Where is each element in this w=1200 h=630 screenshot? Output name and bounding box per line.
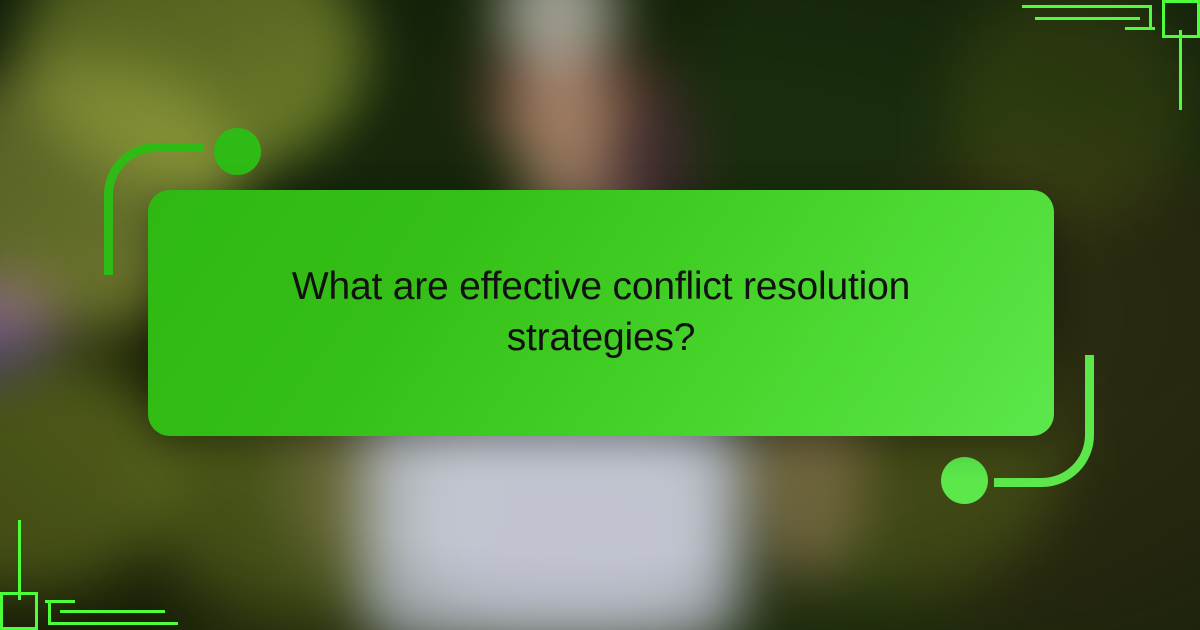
question-card-graphic: What are effective conflict resolution s… bbox=[0, 0, 1200, 630]
accent-dot-bottom-icon bbox=[941, 457, 988, 504]
accent-dot-top-icon bbox=[214, 128, 261, 175]
question-card: What are effective conflict resolution s… bbox=[148, 190, 1054, 436]
question-title: What are effective conflict resolution s… bbox=[251, 262, 951, 363]
